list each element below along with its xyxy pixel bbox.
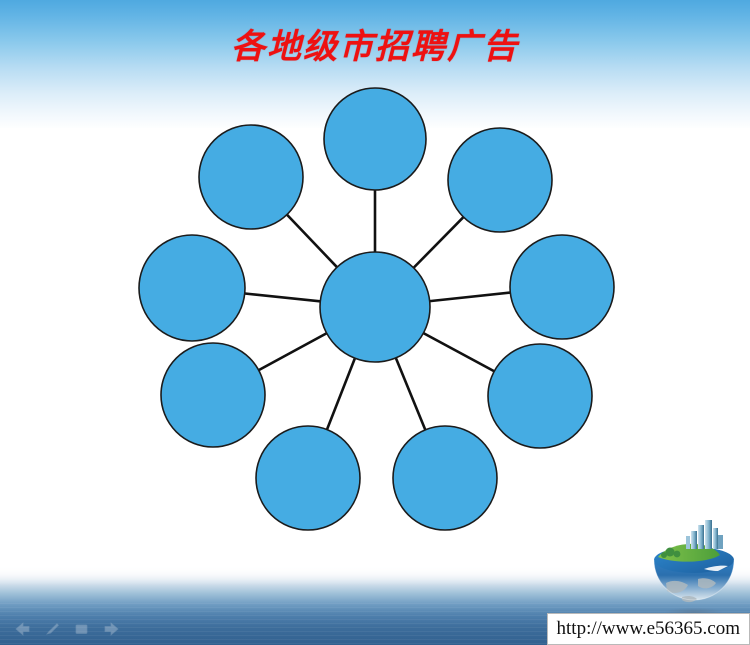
arrow-right-icon[interactable] [103, 622, 120, 636]
diagram-node-1[interactable] [324, 88, 426, 190]
arrow-left-icon[interactable] [14, 622, 31, 636]
hub-circle[interactable] [320, 252, 430, 362]
node-circle-7[interactable] [161, 343, 265, 447]
spoke-line-3 [429, 292, 512, 301]
node-circle-8[interactable] [139, 235, 245, 341]
diagram-hub-node[interactable] [320, 252, 430, 362]
spoke-line-5 [395, 357, 425, 431]
spoke-line-8 [244, 293, 322, 301]
diagram-node-2[interactable] [448, 128, 552, 232]
url-watermark: http://www.e56365.com [547, 613, 750, 645]
node-circle-2[interactable] [448, 128, 552, 232]
spoke-line-4 [423, 333, 496, 372]
diagram-node-5[interactable] [393, 426, 497, 530]
slideshow-nav-controls[interactable] [14, 622, 120, 636]
menu-square-icon[interactable] [74, 622, 89, 636]
node-circle-5[interactable] [393, 426, 497, 530]
globe-city-graphic [646, 513, 742, 617]
spoke-line-6 [327, 357, 356, 430]
node-circle-1[interactable] [324, 88, 426, 190]
diagram-node-3[interactable] [510, 235, 614, 339]
diagram-node-6[interactable] [256, 426, 360, 530]
spoke-line-9 [286, 214, 338, 268]
pen-icon[interactable] [45, 622, 60, 636]
diagram-nodes-group [139, 88, 614, 530]
spoke-line-2 [413, 216, 464, 268]
diagram-node-4[interactable] [488, 344, 592, 448]
hub-and-spoke-diagram [0, 0, 750, 645]
presentation-slide: 各地级市招聘广告 [0, 0, 750, 645]
diagram-node-9[interactable] [199, 125, 303, 229]
diagram-node-8[interactable] [139, 235, 245, 341]
diagram-node-7[interactable] [161, 343, 265, 447]
node-circle-9[interactable] [199, 125, 303, 229]
node-circle-6[interactable] [256, 426, 360, 530]
spoke-line-7 [258, 333, 328, 371]
node-circle-4[interactable] [488, 344, 592, 448]
node-circle-3[interactable] [510, 235, 614, 339]
